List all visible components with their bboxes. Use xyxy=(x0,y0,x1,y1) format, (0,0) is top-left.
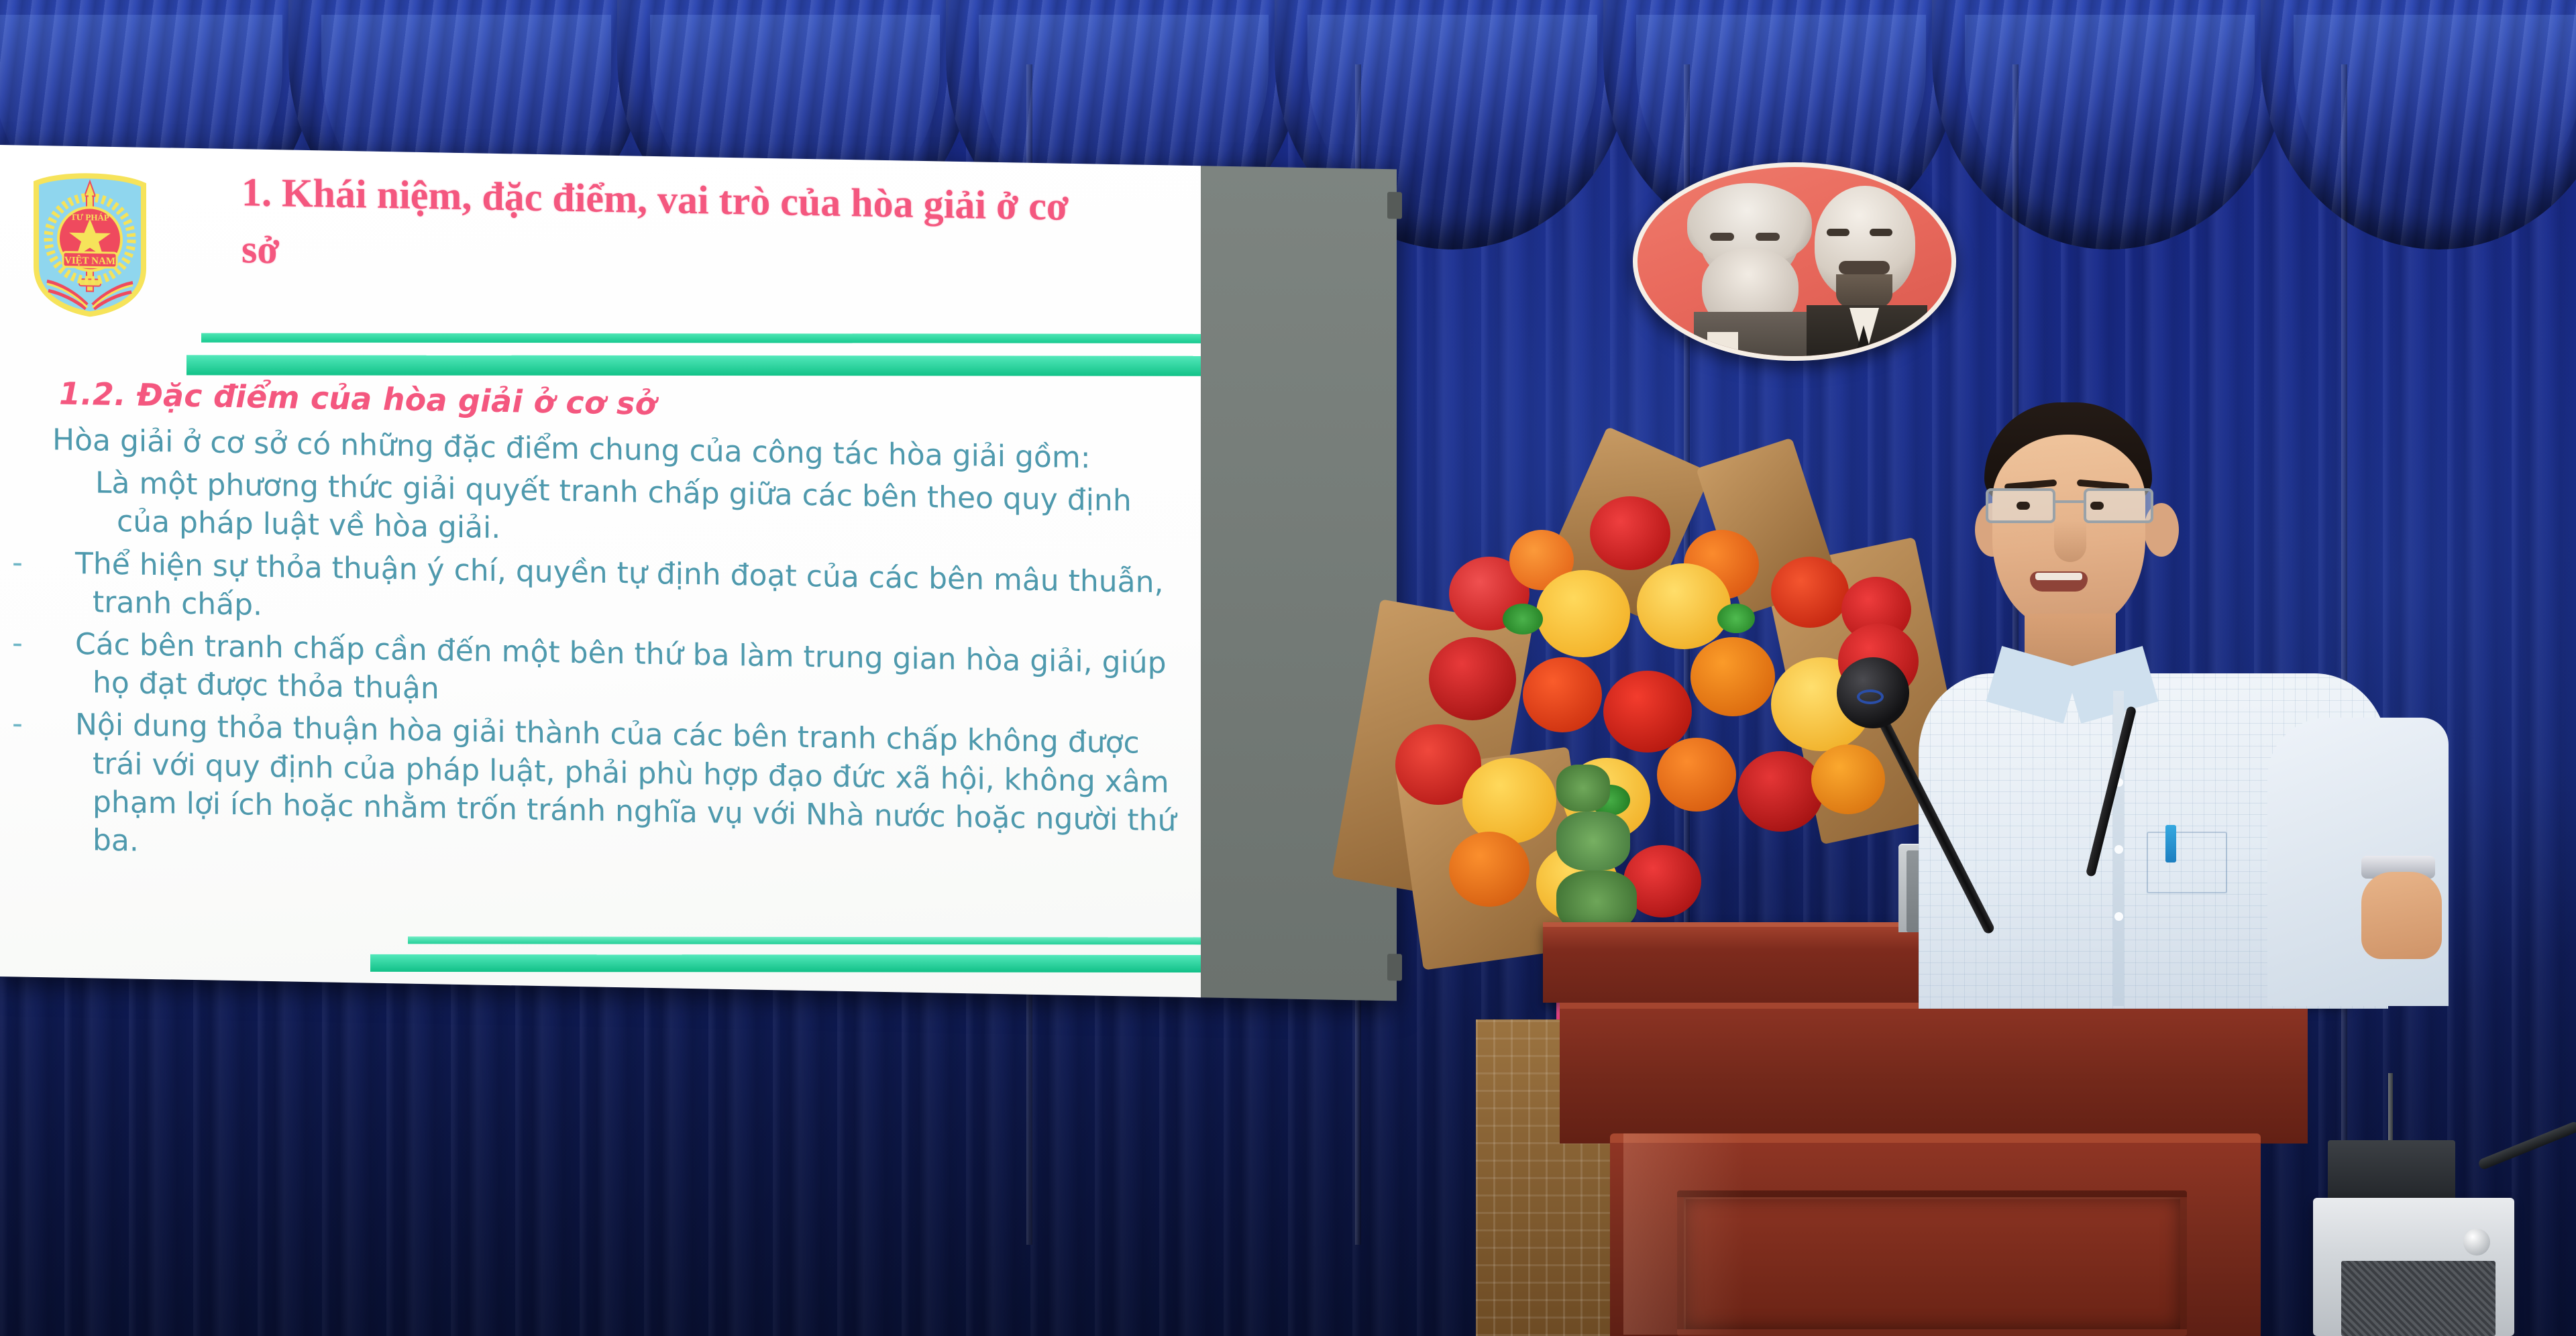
bullet-text: Thể hiện sự thỏa thuận ý chí, quyền tự đ… xyxy=(75,547,1164,622)
emblem-top-text: TƯ PHÁP xyxy=(70,212,109,223)
bullet-marker: - xyxy=(52,706,75,744)
lectern-mid-panel xyxy=(1560,1003,2308,1144)
accent-bar-thin-bottom xyxy=(408,936,1201,944)
slide-body: Hòa giải ở cơ sở có những đặc điểm chung… xyxy=(52,421,1186,883)
photo-scene: VIỆT NAM TƯ PHÁP xyxy=(0,0,2576,1336)
accent-bar-thick-bottom xyxy=(370,954,1201,972)
presenter-mouth xyxy=(2030,571,2088,592)
slide-surface: VIỆT NAM TƯ PHÁP xyxy=(0,145,1201,997)
ministry-of-justice-emblem: VIỆT NAM TƯ PHÁP xyxy=(28,166,152,318)
case-dark-top xyxy=(2328,1140,2455,1202)
bullet-text: Các bên tranh chấp cần đến một bên thứ b… xyxy=(75,627,1167,706)
bullet-text: Nội dung thỏa thuận hòa giải thành của c… xyxy=(75,708,1176,858)
slide-bullet: -Nội dung thỏa thuận hòa giải thành của … xyxy=(52,706,1186,879)
slide-bullet: -Các bên tranh chấp cần đến một bên thứ … xyxy=(52,624,1186,721)
microphone-led-ring xyxy=(1857,689,1884,704)
projection-screen: VIỆT NAM TƯ PHÁP xyxy=(0,145,1397,1001)
slide-subheading: 1.2. Đặc điểm của hòa giải ở cơ sở xyxy=(59,376,1159,431)
case-latch xyxy=(2463,1229,2490,1256)
accent-bar-thin-top xyxy=(201,333,1201,343)
bullet-marker: - xyxy=(52,463,95,502)
presenter-hand xyxy=(2361,872,2442,959)
accent-bar-thick-top xyxy=(186,355,1201,376)
lectern-highlight xyxy=(1623,1133,1744,1335)
bullet-marker: - xyxy=(52,544,75,583)
presenter-nose xyxy=(2054,520,2086,562)
slide-title: 1. Khái niệm, đặc điểm, vai trò của hòa … xyxy=(241,164,1087,292)
slide-bullet: -Là một phương thức giải quyết tranh chấ… xyxy=(52,463,1186,560)
bullet-marker: - xyxy=(52,624,75,663)
slide-bullet: -Thể hiện sự thỏa thuận ý chí, quyền tự … xyxy=(52,544,1186,641)
marx-lenin-portrait xyxy=(1633,162,1956,361)
presenter-eye xyxy=(2090,502,2104,510)
presentation-slide: VIỆT NAM TƯ PHÁP xyxy=(0,145,1201,997)
bullet-text: Là một phương thức giải quyết tranh chấp… xyxy=(95,466,1132,546)
presenter-shirt-pocket xyxy=(2147,832,2227,893)
pen-in-pocket xyxy=(2165,825,2176,862)
presenter-eye xyxy=(2017,502,2030,510)
speaker-grille xyxy=(2341,1261,2495,1336)
lectern-front-panel xyxy=(1677,1190,2187,1336)
presenter-at-podium xyxy=(1892,402,2442,1006)
emblem-bottom-text: VIỆT NAM xyxy=(64,255,115,267)
